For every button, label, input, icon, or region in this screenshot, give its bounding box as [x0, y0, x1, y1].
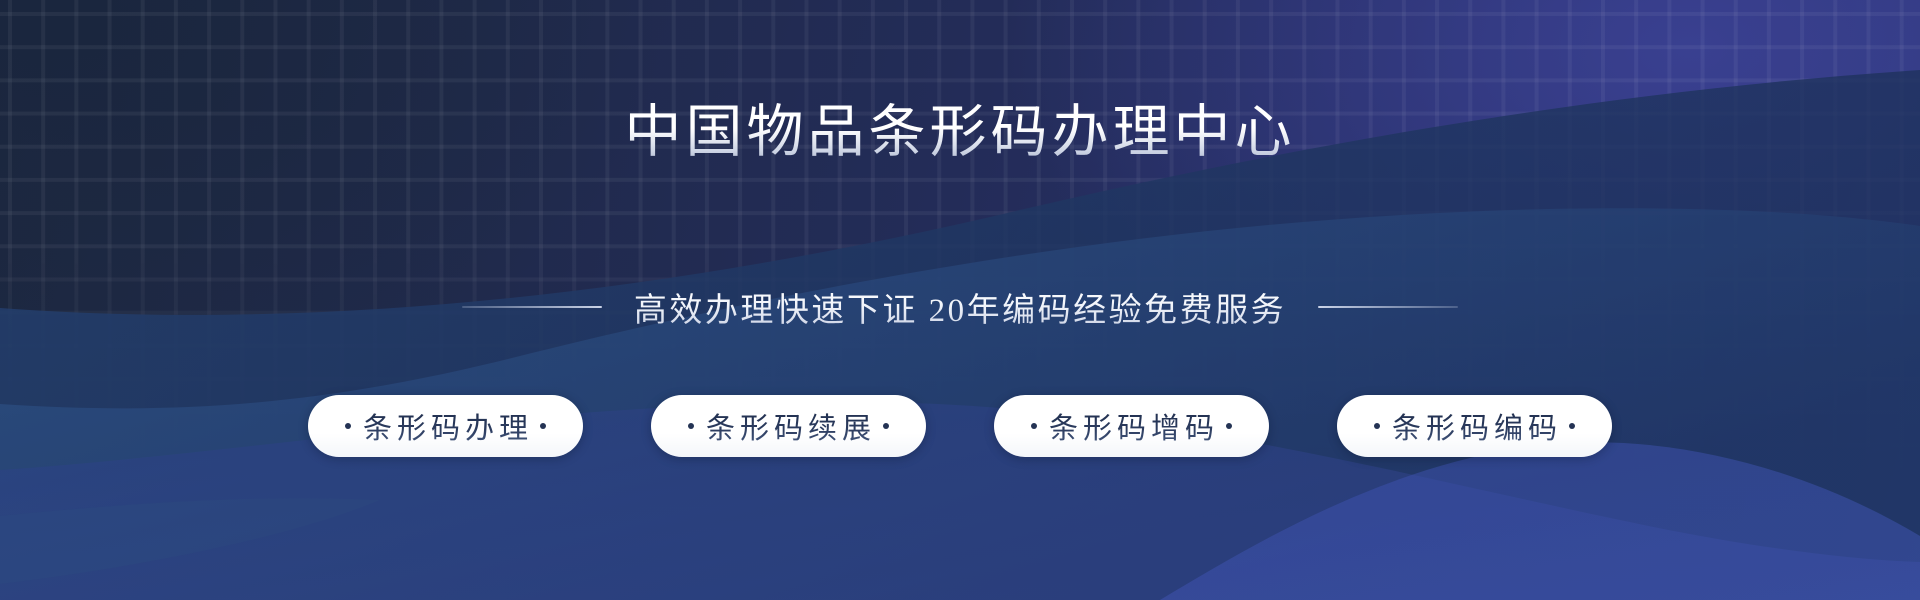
service-pill-zengma[interactable]: 条形码增码: [994, 395, 1269, 457]
page-title: 中国物品条形码办理中心: [0, 102, 1920, 164]
bullet-dot-icon: [1374, 423, 1380, 429]
subtitle-row: 高效办理快速下证 20年编码经验免费服务: [0, 283, 1920, 331]
service-pill-xuzhan[interactable]: 条形码续展: [651, 395, 926, 457]
bullet-dot-icon: [540, 423, 546, 429]
bullet-dot-icon: [883, 423, 889, 429]
right-rule-line: [1318, 306, 1458, 308]
service-pill-label: 条形码办理: [358, 405, 533, 447]
bullet-dot-icon: [688, 423, 694, 429]
bullet-dot-icon: [1031, 423, 1037, 429]
bullet-dot-icon: [345, 423, 351, 429]
banner-content: 中国物品条形码办理中心 高效办理快速下证 20年编码经验免费服务 条形码办理 条…: [0, 0, 1920, 600]
service-pill-label: 条形码编码: [1387, 405, 1562, 447]
service-pill-list: 条形码办理 条形码续展 条形码增码 条形码编码: [0, 395, 1920, 457]
service-pill-bianma[interactable]: 条形码编码: [1337, 395, 1612, 457]
service-pill-label: 条形码续展: [701, 405, 876, 447]
hero-banner: 中国物品条形码办理中心 高效办理快速下证 20年编码经验免费服务 条形码办理 条…: [0, 0, 1920, 600]
bullet-dot-icon: [1569, 423, 1575, 429]
left-rule-line: [462, 306, 602, 308]
service-pill-banli[interactable]: 条形码办理: [308, 395, 583, 457]
bullet-dot-icon: [1226, 423, 1232, 429]
page-subtitle: 高效办理快速下证 20年编码经验免费服务: [634, 283, 1286, 331]
service-pill-label: 条形码增码: [1044, 405, 1219, 447]
